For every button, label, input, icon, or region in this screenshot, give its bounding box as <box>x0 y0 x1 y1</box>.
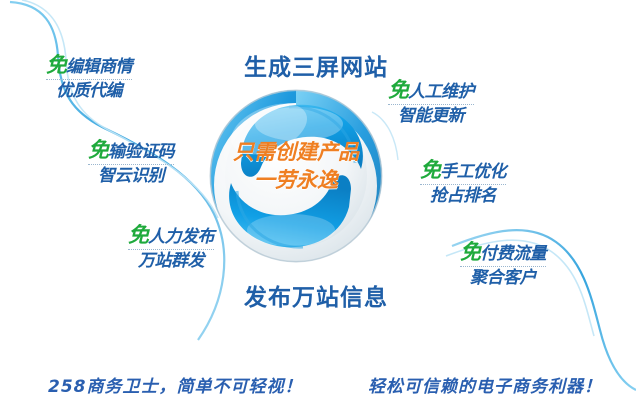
feature-rengong: 免人工维护 智能更新 <box>388 80 474 126</box>
mian-badge-icon: 免 <box>128 223 148 247</box>
mian-badge-icon: 免 <box>460 240 480 264</box>
feature-rengong-line1: 免人工维护 <box>388 80 474 105</box>
feature-renli-line2: 万站群发 <box>128 250 214 271</box>
feature-rengong-line2: 智能更新 <box>388 105 474 126</box>
tagline-right: 轻松可信赖的电子商务利器！ <box>368 372 602 397</box>
headline-bottom: 发布万站信息 <box>244 278 388 312</box>
feature-fufei-line1: 免付费流量 <box>460 242 546 267</box>
feature-renli: 免人力发布 万站群发 <box>128 225 214 271</box>
tagline-left: 258商务卫士，简单不可轻视！ <box>48 372 303 397</box>
mian-badge-icon: 免 <box>88 138 108 162</box>
feature-yanzheng-line2: 智云识别 <box>88 165 174 186</box>
mian-badge-icon: 免 <box>388 78 408 102</box>
promo-banner: 只需创建产品 一劳永逸 生成三屏网站 发布万站信息 免编辑商情 优质代编 免输验… <box>0 0 636 403</box>
mian-badge-icon: 免 <box>46 53 66 77</box>
feature-bianji: 免编辑商情 优质代编 <box>46 55 132 101</box>
feature-shougong-line2: 抢占排名 <box>420 185 506 206</box>
feature-fufei-line2: 聚合客户 <box>460 267 546 288</box>
feature-fufei: 免付费流量 聚合客户 <box>460 242 546 288</box>
feature-bianji-line2: 优质代编 <box>46 80 132 101</box>
feature-yanzheng: 免输验证码 智云识别 <box>88 140 174 186</box>
feature-shougong-line1: 免手工优化 <box>420 160 506 185</box>
feature-yanzheng-line1: 免输验证码 <box>88 140 174 165</box>
feature-bianji-line1: 免编辑商情 <box>46 55 132 80</box>
mian-badge-icon: 免 <box>420 158 440 182</box>
headline-top: 生成三屏网站 <box>244 48 388 82</box>
feature-shougong: 免手工优化 抢占排名 <box>420 160 506 206</box>
feature-renli-line1: 免人力发布 <box>128 225 214 250</box>
center-orb-graphic <box>203 83 389 269</box>
